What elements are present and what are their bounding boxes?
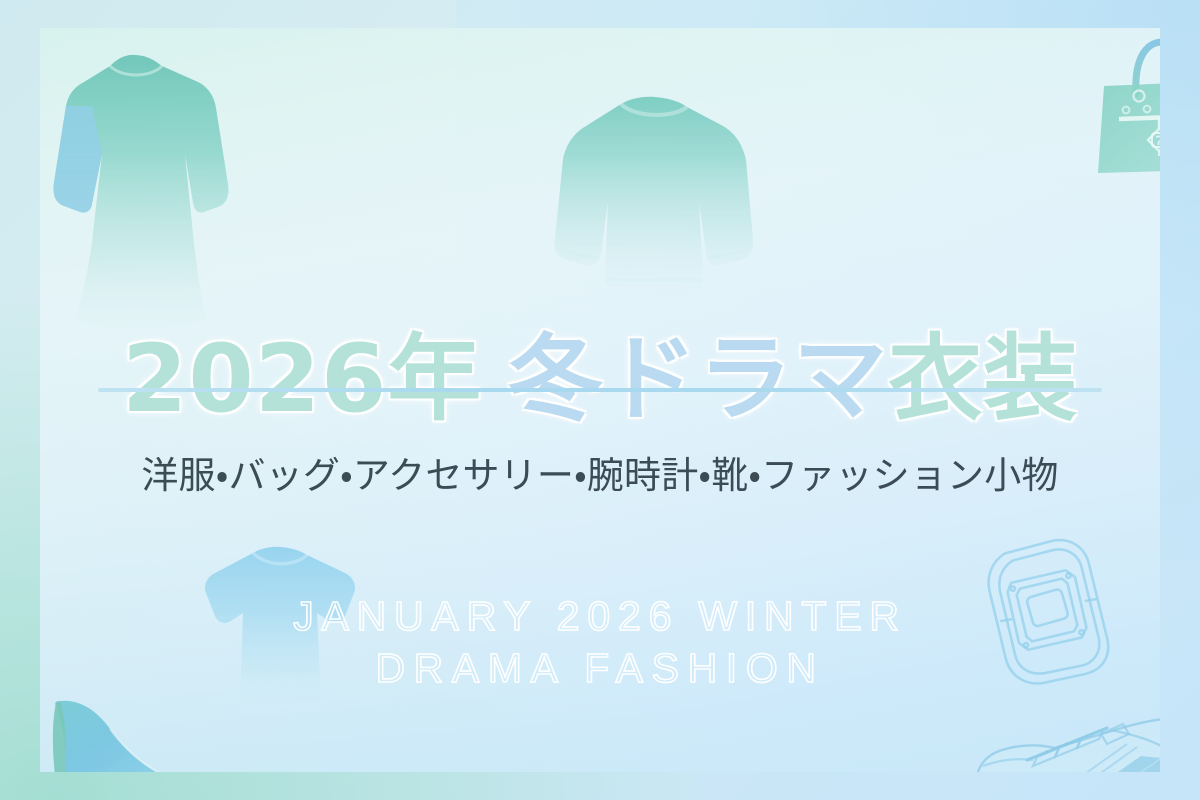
inner-panel: 2026年冬ドラマ衣装 洋服・バッグ・アクセサリー・腕時計・靴・ファッション小物… <box>40 28 1160 772</box>
winter-drama-fashion-banner: 2026年冬ドラマ衣装 洋服・バッグ・アクセサリー・腕時計・靴・ファッション小物… <box>0 0 1200 800</box>
subtitle: 洋服・バッグ・アクセサリー・腕時計・靴・ファッション小物 <box>40 445 1160 499</box>
text-block: 2026年冬ドラマ衣装 洋服・バッグ・アクセサリー・腕時計・靴・ファッション小物… <box>40 28 1160 772</box>
title-divider <box>98 388 1102 392</box>
english-caption-line-2: DRAMA FASHION <box>40 642 1160 694</box>
title-segment-winter-drama: 冬ドラマ <box>508 325 888 434</box>
title-segment-costume: 衣装 <box>888 325 1078 434</box>
title-segment-year: 2026年 <box>122 325 482 434</box>
english-caption-line-1: JANUARY 2026 WINTER <box>40 590 1160 642</box>
page-title: 2026年冬ドラマ衣装 <box>40 333 1160 427</box>
english-caption: JANUARY 2026 WINTER DRAMA FASHION <box>40 590 1160 695</box>
